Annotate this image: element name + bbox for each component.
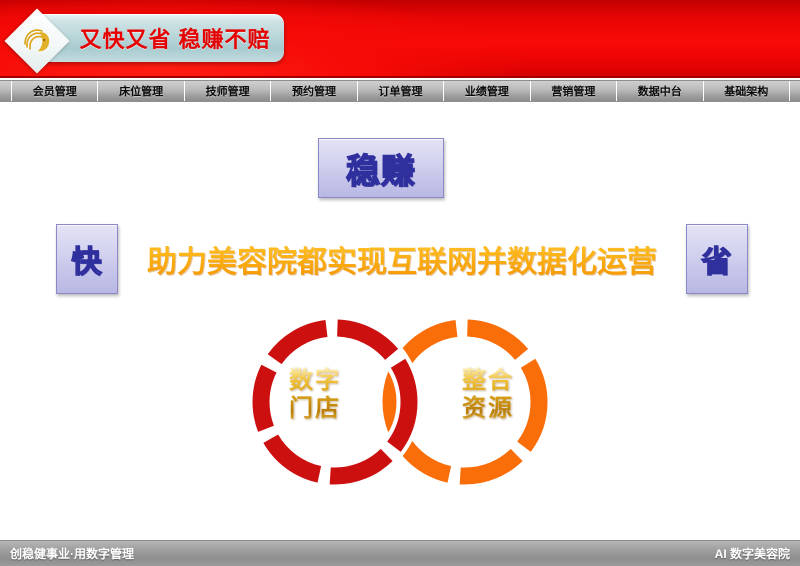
nav-item-bed[interactable]: 床位管理 [98,81,184,101]
footer-left-text: 创稳健事业·用数字管理 [10,545,134,562]
badge-kuai: 快 [56,224,118,294]
ring-label-digital-store-line2: 门店 [255,395,375,423]
app-footer: 创稳健事业·用数字管理 AI 数字美容院 [0,540,800,566]
badge-wenzhuan-label: 稳赚 [346,144,416,193]
nav-right-spacer [790,81,800,101]
badge-sheng-label: 省 [702,237,733,281]
nav-item-infrastructure[interactable]: 基础架构 [704,81,790,101]
ring-label-digital-store: 数字 门店 [255,367,375,424]
badge-sheng: 省 [686,224,748,294]
ring-label-integrate-resources: 整合 资源 [428,367,548,424]
app-header: 又快又省 稳赚不赔 [0,0,800,78]
nav-left-spacer [0,81,12,101]
ring-label-digital-store-line1: 数字 [255,367,375,395]
footer-right-text: AI 数字美容院 [715,545,790,562]
badge-kuai-label: 快 [72,237,103,281]
nav-item-order[interactable]: 订单管理 [358,81,444,101]
nav-item-member[interactable]: 会员管理 [12,81,98,101]
main-slogan: 助力美容院都实现互联网并数据化运营 [128,224,676,294]
main-content: 稳赚 快 助力美容院都实现互联网并数据化运营 省 数字 门店 整合 资源 [0,102,800,532]
nav-item-marketing[interactable]: 营销管理 [531,81,617,101]
beauty-face-logo-icon [14,18,60,64]
venn-rings-diagram: 数字 门店 整合 资源 [215,297,585,507]
ring-label-integrate-resources-line2: 资源 [428,395,548,423]
ring-label-integrate-resources-line1: 整合 [428,367,548,395]
nav-item-performance[interactable]: 业绩管理 [444,81,530,101]
nav-item-appointment[interactable]: 预约管理 [271,81,357,101]
page-title: 又快又省 稳赚不赔 [66,14,284,62]
nav-item-data-platform[interactable]: 数据中台 [617,81,703,101]
nav-item-technician[interactable]: 技师管理 [185,81,271,101]
badge-wenzhuan: 稳赚 [318,138,444,198]
main-navigation[interactable]: 会员管理 床位管理 技师管理 预约管理 订单管理 业绩管理 营销管理 数据中台 … [0,80,800,102]
